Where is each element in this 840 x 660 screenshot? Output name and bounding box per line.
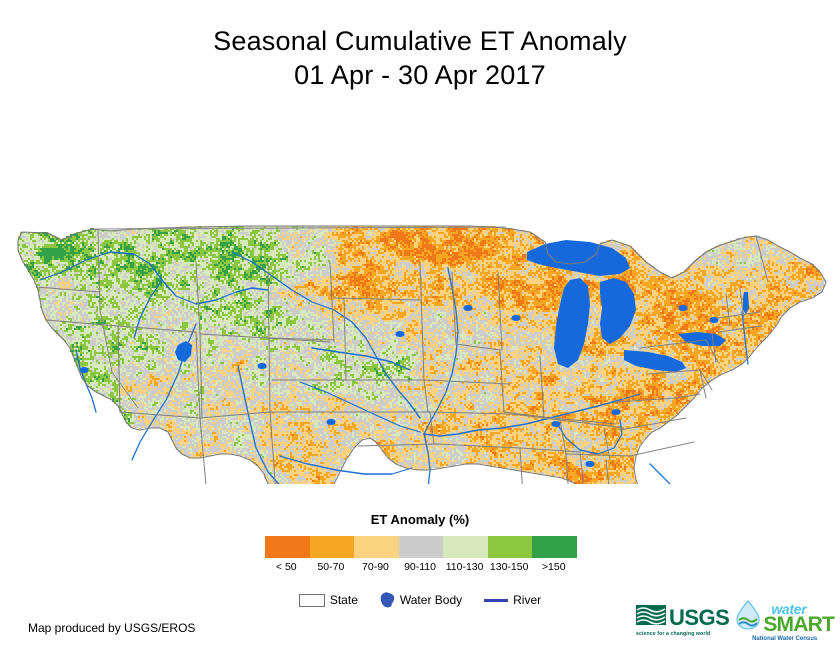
legend-item-state-label: State [330, 593, 358, 607]
water-body-icon [380, 592, 395, 608]
state-outline-icon [299, 594, 325, 607]
legend-title: ET Anomaly (%) [0, 512, 840, 527]
legend-label-0: < 50 [264, 561, 309, 573]
legend-swatch-5 [488, 536, 533, 558]
legend-swatch-6 [532, 536, 577, 558]
legend-label-3: 90-110 [398, 561, 443, 573]
usgs-wave-icon [636, 605, 666, 630]
legend-item-river: River [484, 593, 541, 607]
legend-label-4: 110-130 [442, 561, 487, 573]
legend-item-state: State [299, 593, 358, 607]
legend-swatch-4 [443, 536, 488, 558]
legend-swatch-3 [399, 536, 444, 558]
et-anomaly-map-raster[interactable] [0, 112, 840, 484]
water-droplet-icon [735, 600, 761, 635]
title-line-1: Seasonal Cumulative ET Anomaly [0, 24, 840, 58]
legend-color-bar [264, 535, 578, 559]
legend-item-water-body: Water Body [380, 592, 462, 608]
legend-item-river-label: River [513, 593, 541, 607]
legend-label-1: 50-70 [309, 561, 354, 573]
legend-swatch-1 [310, 536, 355, 558]
legend-swatch-0 [265, 536, 310, 558]
usgs-logo: USGS science for a changing world [636, 605, 729, 637]
legend-item-water-body-label: Water Body [400, 593, 462, 607]
legend: ET Anomaly (%) < 5050-7070-9090-110110-1… [0, 512, 840, 573]
watersmart-smart-text: SMART [763, 614, 834, 635]
legend-label-6: >150 [531, 561, 576, 573]
map-container[interactable] [0, 112, 840, 484]
agency-logos: USGS science for a changing world water … [636, 600, 834, 642]
legend-label-2: 70-90 [353, 561, 398, 573]
map-credit: Map produced by USGS/EROS [28, 621, 195, 635]
legend-labels: < 5050-7070-9090-110110-130130-150>150 [264, 561, 576, 573]
legend-label-5: 130-150 [487, 561, 532, 573]
watersmart-logo: water SMART National Water Census [735, 600, 834, 642]
usgs-wordmark: USGS [669, 607, 729, 629]
page-title: Seasonal Cumulative ET Anomaly 01 Apr - … [0, 24, 840, 92]
usgs-tagline: science for a changing world [636, 631, 710, 637]
legend-swatch-2 [354, 536, 399, 558]
river-line-icon [484, 599, 508, 602]
watersmart-subtitle: National Water Census [752, 636, 817, 642]
title-line-2: 01 Apr - 30 Apr 2017 [0, 58, 840, 92]
